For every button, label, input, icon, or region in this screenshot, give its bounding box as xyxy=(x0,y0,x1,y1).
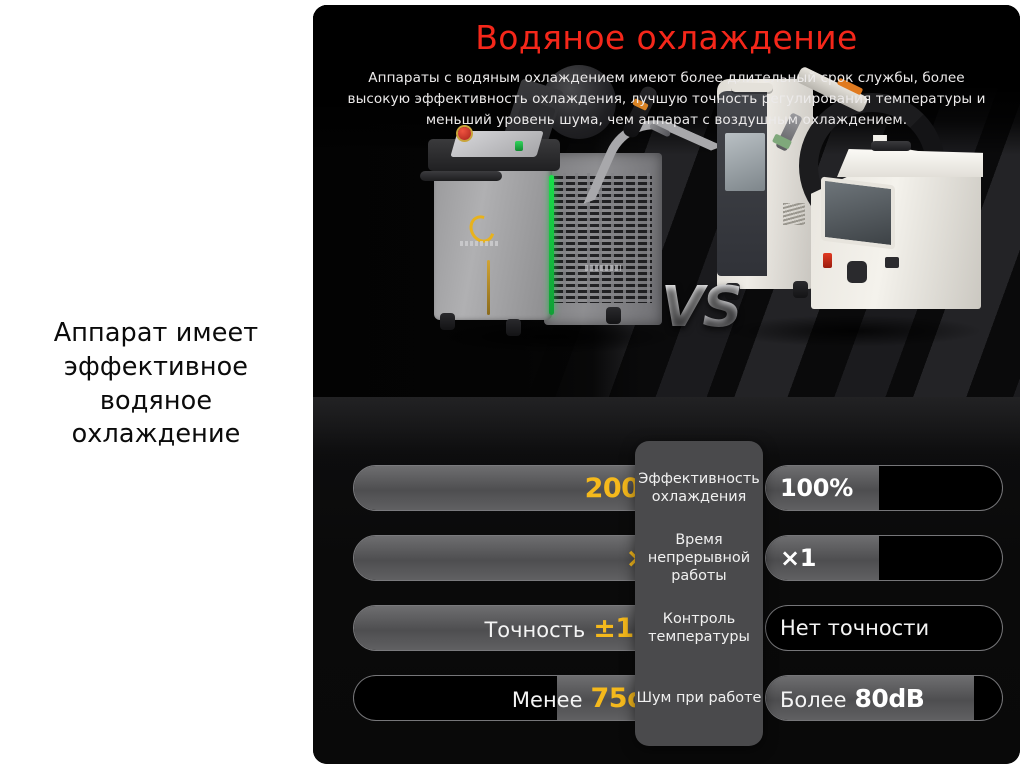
ac-shadow xyxy=(723,315,983,347)
ac-tall-vent xyxy=(783,203,805,225)
ac-caster-right xyxy=(793,281,808,298)
wc-shadow xyxy=(426,320,676,354)
row-3-left-label: Точность xyxy=(484,618,585,642)
header: Водяное охлаждение Аппараты с водяным ох… xyxy=(313,5,1020,131)
row-3-right-label: Нет точности xyxy=(780,616,929,640)
wc-caster-front xyxy=(440,313,455,330)
row-2-left-bar: ×2 xyxy=(353,535,683,581)
wc-accent-stripe xyxy=(487,260,490,315)
left-caption-area: Аппарат имеет эффективное водяное охлажд… xyxy=(0,0,312,769)
wc-led-strip xyxy=(549,175,554,315)
ac-cable-port xyxy=(847,261,867,283)
row-2-right-bar: ×1 xyxy=(765,535,1003,581)
row-3-right-text: Нет точности xyxy=(780,616,937,640)
ac-wedge-handle xyxy=(871,141,911,151)
left-caption-text: Аппарат имеет эффективное водяное охлажд… xyxy=(16,317,296,453)
ac-touchscreen xyxy=(821,176,895,249)
criterion-label-3: Контроль температуры xyxy=(635,605,763,651)
versus-badge: VS xyxy=(661,275,741,340)
criterion-label-2: Время непрерывной работы xyxy=(635,535,763,581)
ac-wedge-top-surface xyxy=(837,149,983,177)
row-1-right-bar: 100% xyxy=(765,465,1003,511)
row-1-right-text: 100% xyxy=(780,474,853,502)
row-4-right-label: Более xyxy=(780,688,847,712)
wc-main-body xyxy=(434,160,552,320)
ac-tall-screen xyxy=(725,133,765,191)
wc-handle xyxy=(420,171,502,181)
row-1-right-value: 100% xyxy=(780,474,853,502)
row-4-right-bar: Более80dB xyxy=(765,675,1003,721)
row-4-left-bar: Менее75dB xyxy=(353,675,683,721)
power-switch-icon xyxy=(823,253,832,268)
row-4-left-label: Менее xyxy=(512,688,583,712)
row-3-left-bar: Точность±1°C xyxy=(353,605,683,651)
row-2-right-value: ×1 xyxy=(780,544,816,572)
main-dark-panel: Водяное охлаждение Аппараты с водяным ох… xyxy=(313,5,1020,764)
criteria-panel: Эффективность охлаждения Время непрерывн… xyxy=(635,441,763,746)
ac-side-slot xyxy=(885,257,899,268)
wc-caster-rear xyxy=(606,307,621,324)
row-1-left-bar: 200% xyxy=(353,465,683,511)
page-title: Водяное охлаждение xyxy=(313,18,1020,57)
wc-brand-logo-text xyxy=(460,241,500,246)
row-2-right-text: ×1 xyxy=(780,544,816,572)
wc-cabinet-logo xyxy=(585,265,621,271)
row-4-right-value: 80dB xyxy=(855,684,925,713)
criterion-label-1: Эффективность охлаждения xyxy=(635,465,763,511)
wc-caster-mid xyxy=(506,319,521,336)
wc-green-button xyxy=(515,141,523,151)
page-subtitle: Аппараты с водяным охлаждением имеют бол… xyxy=(347,68,987,131)
comparison-table: 200% 100% ×2 ×1 xyxy=(313,453,1020,753)
row-4-right-text: Более80dB xyxy=(780,684,924,713)
row-3-right-bar: Нет точности xyxy=(765,605,1003,651)
criterion-label-4: Шум при работе xyxy=(635,675,763,721)
